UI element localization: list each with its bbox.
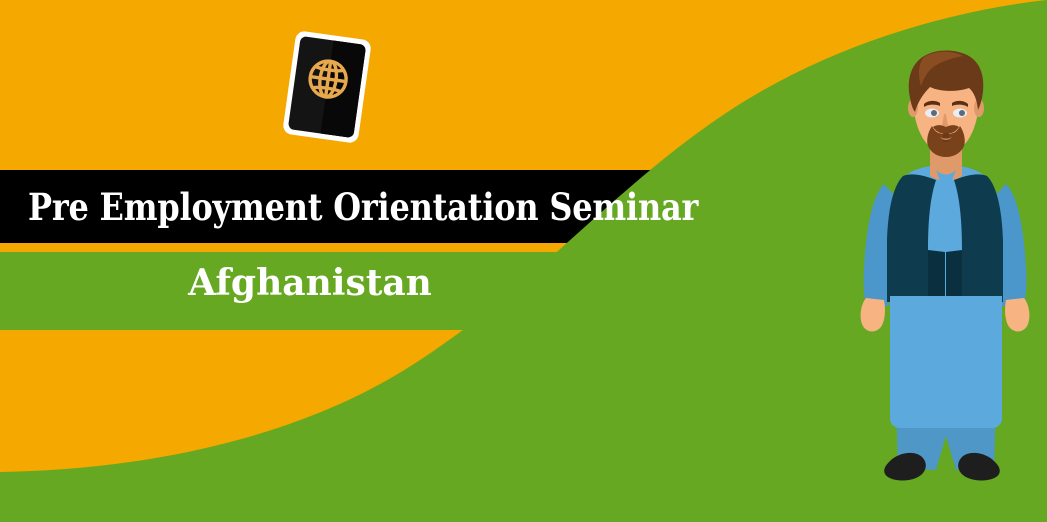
person-iris-right [959,110,965,116]
person-chin-patch [943,132,949,142]
person-vest-shadow [928,250,962,302]
seminar-banner: Pre Employment Orientation Seminar Afgha… [0,0,1047,522]
person-illustration [0,0,1047,522]
person-shoe-left [884,453,926,481]
person-group [861,51,1030,481]
person-tunic [890,296,1002,428]
person-hand-left [861,298,885,331]
person-hand-right [1005,298,1029,331]
person-iris-left [931,110,937,116]
